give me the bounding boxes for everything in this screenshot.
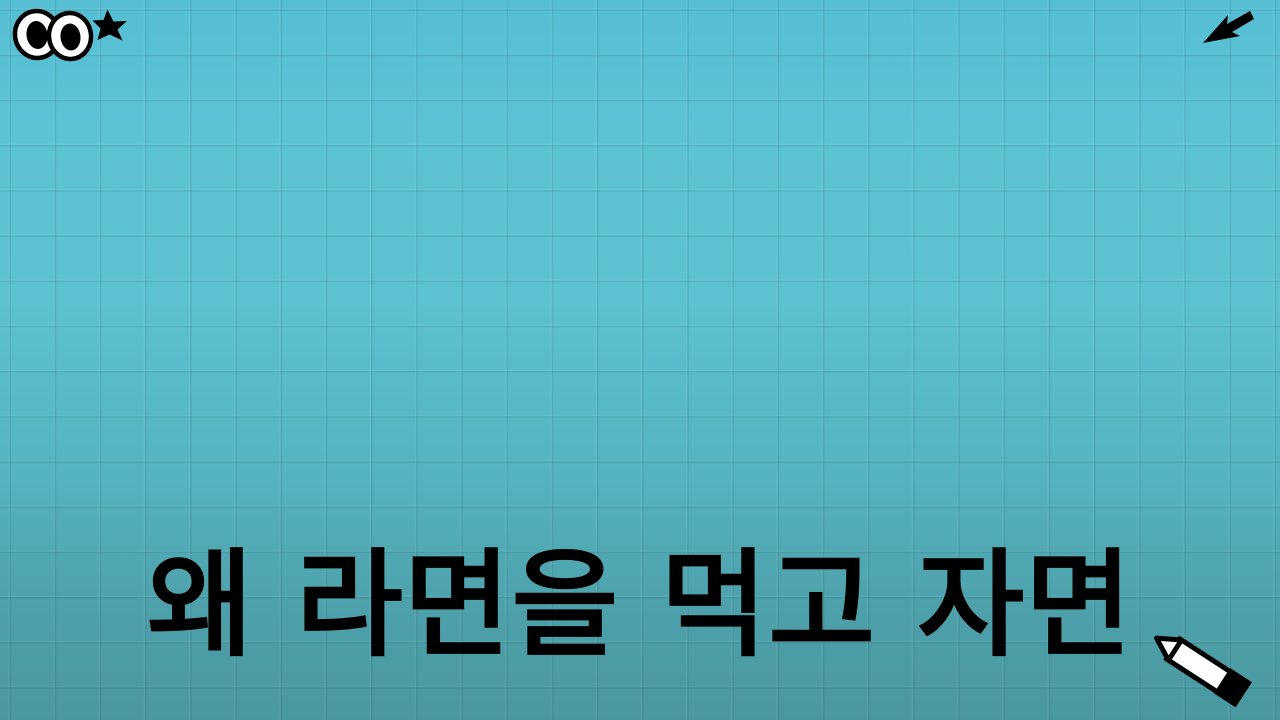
thumbnail-canvas: 왜 라면을 먹고 자면 얼굴이 붓는 걸까요: [0, 0, 1280, 720]
eyes-star-logo: [8, 6, 128, 62]
headline-line-1: 왜 라면을 먹고 자면: [0, 524, 1280, 688]
star-icon: [93, 10, 128, 41]
cursor-arrow-icon: [1200, 6, 1256, 54]
headline-text: 왜 라면을 먹고 자면 얼굴이 붓는 걸까요: [0, 196, 1280, 720]
